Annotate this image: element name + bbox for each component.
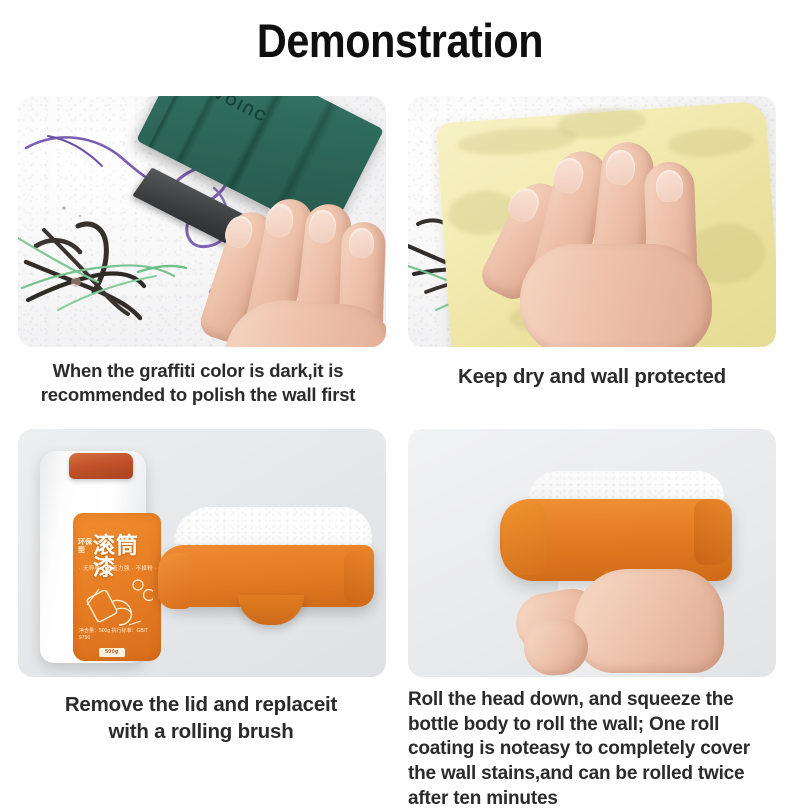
step-1-caption: When the graffiti color is dark,it is re… — [18, 347, 378, 408]
bottle-cap — [69, 453, 133, 479]
palm — [574, 569, 724, 673]
step-2: Keep dry and wall protected — [408, 96, 790, 408]
hand — [208, 182, 386, 347]
caption-line: bottle body to roll the wall; One roll — [408, 713, 780, 738]
roller-usage-illustration — [83, 575, 153, 633]
step-4-photo — [408, 429, 776, 677]
caption-line: coating is noteasy to completely cover — [408, 737, 780, 762]
step-1: QETAOIUC When the graffiti color is dark… — [18, 96, 400, 408]
fingernail — [348, 228, 374, 259]
label-footer-text: 净含量：500g 执行标准：GB/T 9756 — [79, 628, 155, 643]
caption-line: Keep dry and wall protected — [408, 363, 776, 390]
step-1-photo: QETAOIUC — [18, 96, 386, 347]
label-brand-text: 滚筒漆 — [93, 535, 161, 579]
paint-bottle: 环保型 滚筒漆 · 无异味 · 遮盖力强 · 不掉粉 · 快干防霉 净含量：50… — [40, 451, 146, 663]
palm — [520, 244, 712, 347]
caption-line: with a rolling brush — [18, 718, 384, 746]
caption-line: the wall stains,and can be rolled twice — [408, 762, 780, 787]
cradle-arm-right — [694, 499, 732, 565]
step-3-caption: Remove the lid and replaceit with a roll… — [18, 677, 384, 746]
step-2-photo — [408, 96, 776, 347]
step-3: 环保型 滚筒漆 · 无异味 · 遮盖力强 · 不掉粉 · 快干防霉 净含量：50… — [18, 429, 400, 811]
step-2-caption: Keep dry and wall protected — [408, 347, 776, 390]
page-title: Demonstration — [48, 0, 752, 68]
step-3-photo: 环保型 滚筒漆 · 无异味 · 遮盖力强 · 不掉粉 · 快干防霉 净含量：50… — [18, 429, 386, 677]
cradle-arm-left — [158, 553, 192, 609]
roller-head — [158, 507, 374, 619]
demonstration-steps: QETAOIUC When the graffiti color is dark… — [0, 96, 800, 811]
label-subtitle-text: · 无异味 · 遮盖力强 · 不掉粉 · 快干防霉 — [79, 564, 159, 572]
step-4-caption: Roll the head down, and squeeze the bott… — [408, 677, 780, 811]
caption-line: Roll the head down, and squeeze the — [408, 688, 780, 713]
fingernail — [655, 170, 683, 203]
bottle-label: 环保型 滚筒漆 · 无异味 · 遮盖力强 · 不掉粉 · 快干防霉 净含量：50… — [73, 513, 161, 661]
hand — [516, 557, 736, 677]
label-side-text: 环保型 — [78, 539, 92, 554]
caption-line: after ten minutes — [408, 787, 780, 811]
label-weight-badge: 500g — [99, 648, 125, 657]
caption-line: When the graffiti color is dark,it is — [18, 359, 378, 383]
hand — [500, 128, 750, 347]
step-4: Roll the head down, and squeeze the bott… — [408, 429, 790, 811]
caption-line: Remove the lid and replaceit — [18, 691, 384, 719]
caption-line: recommended to polish the wall first — [18, 383, 378, 407]
cradle-arm-right — [344, 551, 374, 603]
